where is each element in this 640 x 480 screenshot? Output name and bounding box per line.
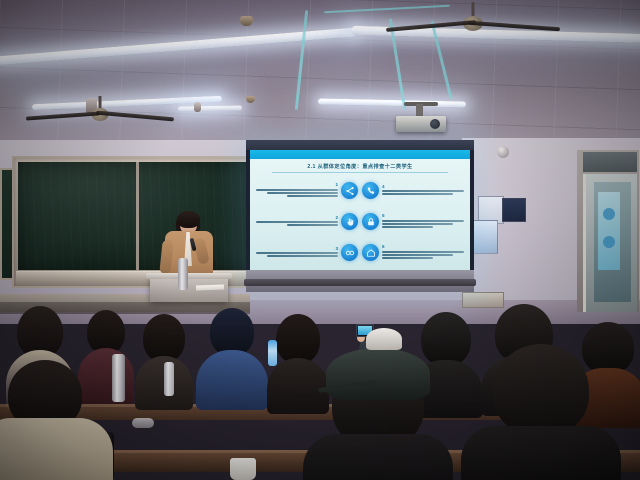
list-item: 3 <box>256 240 358 265</box>
list-item-text: 5 <box>382 214 464 229</box>
slide-columns: 1 2 <box>256 177 464 266</box>
list-item-text: 4 <box>382 185 464 197</box>
student-body <box>303 434 453 480</box>
hand-touch-icon <box>341 213 358 230</box>
student-body <box>461 426 621 480</box>
list-item-text: 6 <box>382 245 464 260</box>
text-line <box>382 254 453 256</box>
door-poster-dot <box>603 208 615 220</box>
lock-icon <box>362 213 379 230</box>
slide-title-rule <box>272 172 448 173</box>
door-poster-dot <box>603 236 615 248</box>
text-line <box>256 221 338 223</box>
text-line <box>287 224 338 226</box>
text-line <box>382 226 433 228</box>
list-item <box>0 360 100 480</box>
ceiling-fan-right <box>418 2 528 46</box>
slide-right-column: 4 5 <box>362 177 464 266</box>
share-nodes-icon <box>341 182 358 199</box>
list-item: 6 <box>362 240 464 265</box>
baseball-cap <box>326 348 430 400</box>
screen-bottom-casing <box>246 270 474 292</box>
projector-lens <box>430 119 440 129</box>
list-item-number: 5 <box>382 214 464 219</box>
green-chalkboard <box>12 156 256 288</box>
student-wearing-cap <box>318 348 438 480</box>
list-item-number: 3 <box>256 247 338 252</box>
list-item-number: 2 <box>256 216 338 221</box>
text-line <box>382 220 464 222</box>
presenter-hair <box>177 211 200 228</box>
door-poster <box>598 192 620 270</box>
list-item-text: 3 <box>256 247 338 259</box>
student-head <box>210 308 254 356</box>
ceiling-speaker-small-2 <box>194 102 201 112</box>
thermos-white <box>112 354 125 402</box>
podium-top <box>146 273 232 279</box>
white-cap <box>366 328 402 350</box>
chalkboard-divider <box>136 162 139 270</box>
student-audience <box>0 300 640 480</box>
list-item-number: 6 <box>382 245 464 250</box>
slide-left-column: 1 2 <box>256 177 358 266</box>
presentation-slide: 2.1 从群体定位角度：重点排查十二类学生 <box>250 150 470 270</box>
thermos-flask <box>178 258 188 290</box>
classroom-door[interactable] <box>577 150 639 312</box>
student-head <box>143 314 185 362</box>
slide-accent-band <box>250 150 470 159</box>
list-item: 2 <box>256 209 358 234</box>
water-bottle-blue <box>268 340 277 366</box>
list-item: 5 <box>362 209 464 234</box>
papers <box>196 285 224 291</box>
list-item-text: 2 <box>256 216 338 228</box>
wall-speaker <box>497 146 509 158</box>
thermos-small-white <box>164 362 174 396</box>
list-item-number: 1 <box>256 183 338 188</box>
home-icon <box>362 244 379 261</box>
list-item: 1 <box>256 178 358 203</box>
ceiling-fan-left <box>52 96 148 132</box>
student-body-blue-jacket <box>196 350 268 410</box>
student-head <box>276 314 320 364</box>
list-item <box>206 308 258 400</box>
text-line <box>382 193 453 195</box>
list-item <box>476 344 606 480</box>
paper-cup <box>230 458 256 480</box>
text-line <box>382 190 464 192</box>
list-item <box>276 314 320 402</box>
list-item: 4 <box>362 178 464 203</box>
glasses <box>132 418 154 428</box>
door-panel <box>583 174 637 312</box>
classroom-photo-scene: 2.1 从群体定位角度：重点排查十二类学生 <box>0 0 640 480</box>
screen-roller-bar <box>244 279 476 286</box>
text-line <box>382 257 433 259</box>
text-line <box>256 189 338 191</box>
text-line <box>382 251 464 253</box>
text-line <box>267 255 338 257</box>
text-line <box>287 195 338 197</box>
infinity-link-icon <box>341 244 358 261</box>
slide-title: 2.1 从群体定位角度：重点排查十二类学生 <box>250 163 470 170</box>
notice-blue <box>470 220 498 254</box>
projection-screen: 2.1 从群体定位角度：重点排查十二类学生 <box>246 140 474 292</box>
text-line <box>256 252 338 254</box>
notice-dark <box>502 198 526 222</box>
list-item-text: 1 <box>256 183 338 198</box>
ceiling-projector <box>396 116 446 132</box>
student-head <box>493 344 589 436</box>
door-glass <box>594 182 631 302</box>
list-item-number: 4 <box>382 185 464 190</box>
phone-call-icon <box>362 182 379 199</box>
ceiling <box>0 0 640 148</box>
screen-top-bar <box>246 140 474 150</box>
text-line <box>267 192 338 194</box>
door-transom <box>583 152 637 172</box>
text-line <box>382 223 453 225</box>
student-body-beige <box>0 418 113 480</box>
